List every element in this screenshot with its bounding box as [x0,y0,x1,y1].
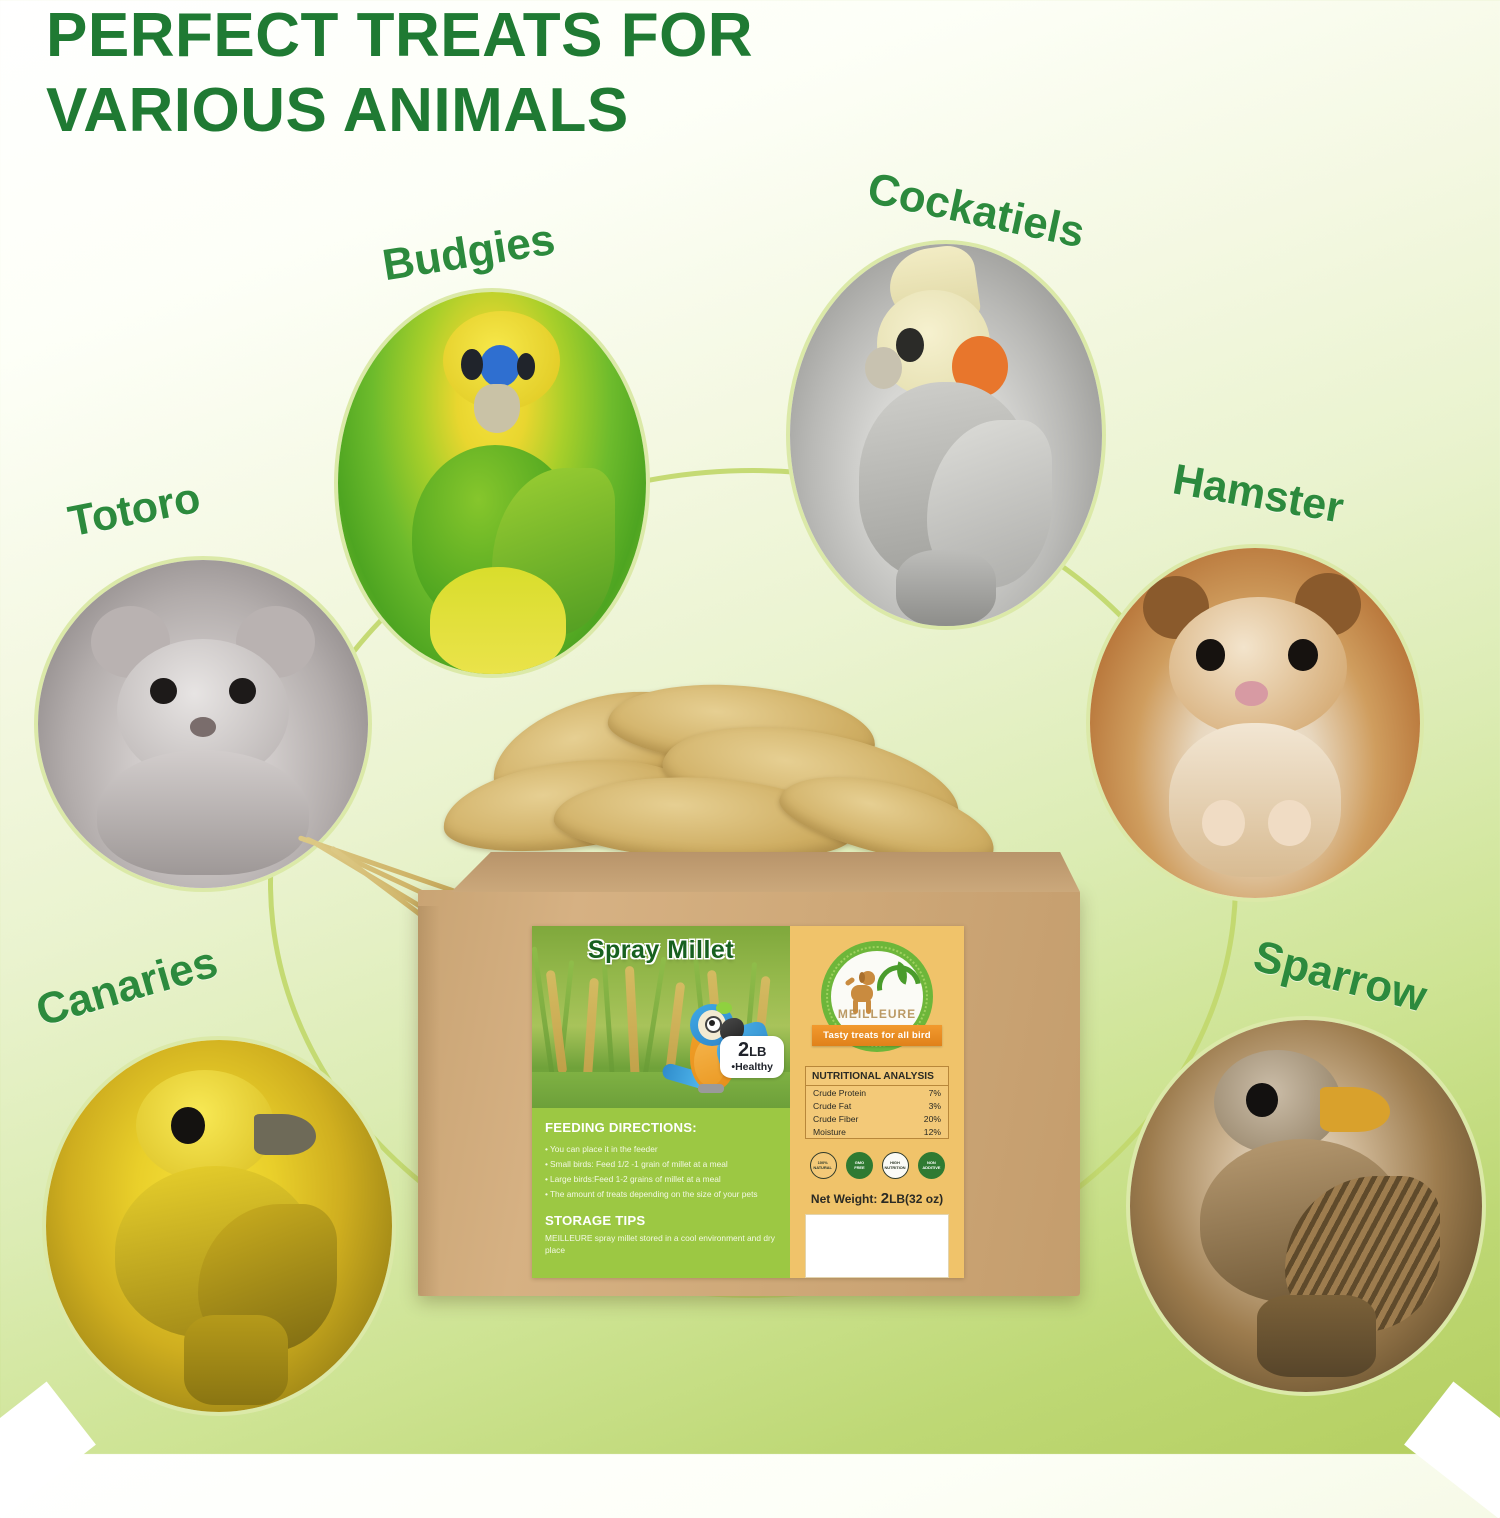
badge-line-2: ADDITIVE [922,1166,940,1170]
storage-heading: STORAGE TIPS [545,1213,779,1228]
badge-line-2: NUTRITION [884,1166,905,1170]
storage-tips: STORAGE TIPS MEILLEURE spray millet stor… [545,1213,779,1257]
nutrition-value: 20% [903,1112,948,1125]
animal-label-hamster: Hamster [1169,455,1347,533]
badge-gmo-free-icon: GMO FREE [846,1152,873,1179]
animal-label-canaries: Canaries [31,937,223,1036]
animal-label-budgies: Budgies [379,215,558,292]
feeding-directions: FEEDING DIRECTIONS: You can place it in … [532,1108,790,1278]
nutrition-name: Crude Fat [806,1099,903,1112]
net-weight: Net Weight: 2LB(32 oz) [811,1190,943,1207]
chinchilla-photo [38,560,368,888]
table-row: Moisture 12% [806,1125,948,1138]
table-row: Crude Fiber 20% [806,1112,948,1125]
brand-ribbon: Tasty treats for all bird [812,1025,942,1046]
net-weight-suffix: LB(32 oz) [889,1192,943,1206]
nutrition-value: 7% [903,1086,948,1099]
page-title: PERFECT TREATS FOR VARIOUS ANIMALS [46,4,1146,142]
budgerigar-photo [338,292,646,674]
feeding-item: Large birds:Feed 1-2 grains of millet at… [545,1172,779,1187]
feeding-list: You can place it in the feeder Small bir… [545,1142,779,1202]
badge-natural-icon: 100% NATURAL [810,1152,837,1179]
label-right-panel: MEILLEURE Tasty treats for all bird NUTR… [790,926,964,1278]
nutrition-value: 12% [903,1125,948,1138]
nutrition-table: NUTRITIONAL ANALYSIS Crude Protein 7% Cr… [805,1066,949,1139]
animal-bubble-budgies [338,292,646,674]
weight-tagline: Healthy [735,1061,773,1073]
animal-bubble-hamster [1090,548,1420,898]
product-label: Spray Millet 2LB •Healthy FEEDING DIRECT… [532,926,964,1278]
headline-line-2: VARIOUS ANIMALS [46,79,1146,142]
animal-bubble-canaries [46,1040,392,1412]
badge-non-additive-icon: NON ADDITIVE [918,1152,945,1179]
headline-line-1: PERFECT TREATS FOR [46,4,1146,67]
brand-tagline: Tasty treats for all bird [823,1030,931,1041]
badge-line-2: NATURAL [814,1166,832,1170]
nutrition-name: Crude Protein [806,1086,903,1099]
blank-print-area [805,1214,949,1278]
brand-logo: MEILLEURE Tasty treats for all bird [821,941,933,1052]
hamster-photo [1090,548,1420,898]
millet-field-hero: Spray Millet 2LB •Healthy [532,926,790,1108]
product-box: Spray Millet 2LB •Healthy FEEDING DIRECT… [418,890,1080,1296]
animal-label-totoro: Totoro [65,474,205,547]
badge-high-nutrition-icon: HIGH NUTRITION [882,1152,909,1179]
animal-label-sparrow: Sparrow [1249,931,1432,1022]
brand-name: MEILLEURE [821,1007,933,1021]
animal-bubble-sparrow [1130,1020,1482,1392]
weight-amount: 2 [738,1039,749,1061]
canary-photo [46,1040,392,1412]
table-row: Crude Fat 3% [806,1099,948,1112]
product-title: Spray Millet [532,936,790,965]
feeding-item: You can place it in the feeder [545,1142,779,1157]
net-weight-prefix: Net Weight: [811,1192,877,1206]
cockatiel-photo [790,244,1102,626]
corner-cut-bottom-right [1404,1382,1500,1518]
nutrition-value: 3% [903,1099,948,1112]
animal-bubble-totoro [38,560,368,888]
sparrow-photo [1130,1020,1482,1392]
feeding-item: Small birds: Feed 1/2 -1 grain of millet… [545,1157,779,1172]
feeding-heading: FEEDING DIRECTIONS: [545,1120,779,1135]
badge-line-2: FREE [854,1166,864,1170]
certification-badges: 100% NATURAL GMO FREE HIGH NUTRITION [810,1152,945,1179]
label-left-panel: Spray Millet 2LB •Healthy FEEDING DIRECT… [532,926,790,1278]
feeding-item: The amount of treats depending on the si… [545,1187,779,1202]
net-weight-amount: 2 [881,1190,889,1207]
nutrition-name: Crude Fiber [806,1112,903,1125]
weight-badge: 2LB •Healthy [720,1036,784,1078]
table-row: Crude Protein 7% [806,1086,948,1099]
nutrition-heading: NUTRITIONAL ANALYSIS [806,1067,948,1086]
storage-text: MEILLEURE spray millet stored in a cool … [545,1232,779,1257]
animal-bubble-cockatiels [790,244,1102,626]
nutrition-name: Moisture [806,1125,903,1138]
weight-unit: LB [749,1044,766,1059]
